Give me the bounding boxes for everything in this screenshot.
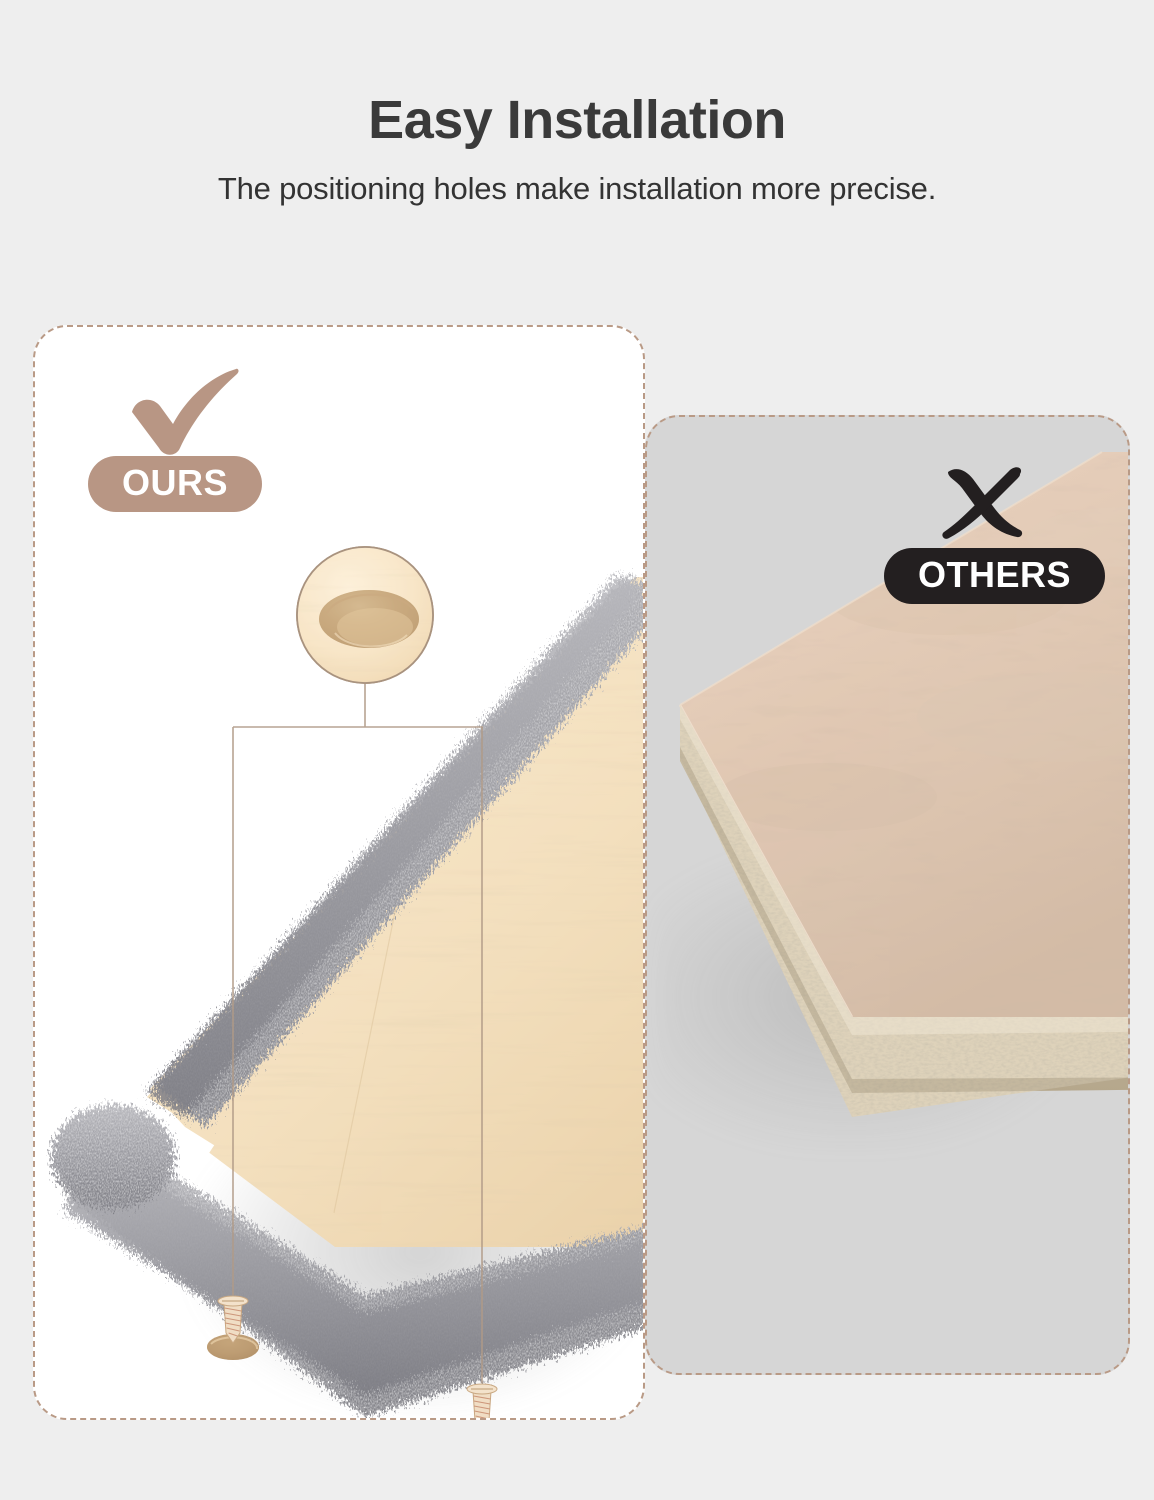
- x-icon: [936, 462, 1032, 548]
- page-title: Easy Installation: [0, 0, 1154, 149]
- hole-magnifier-callout: [297, 547, 433, 683]
- ours-carpet-corner: [51, 1105, 175, 1209]
- page-subtitle: The positioning holes make installation …: [0, 149, 1154, 207]
- ours-badge-group: OURS: [88, 370, 262, 512]
- others-mark: [884, 462, 1105, 548]
- screw-2: [467, 1384, 497, 1420]
- ours-badge-label: OURS: [88, 456, 262, 512]
- ours-mark: [88, 370, 262, 456]
- header: Easy Installation The positioning holes …: [0, 0, 1154, 207]
- check-icon: [126, 368, 246, 456]
- others-badge-label: OTHERS: [884, 548, 1105, 604]
- others-badge-group: OTHERS: [884, 462, 1105, 604]
